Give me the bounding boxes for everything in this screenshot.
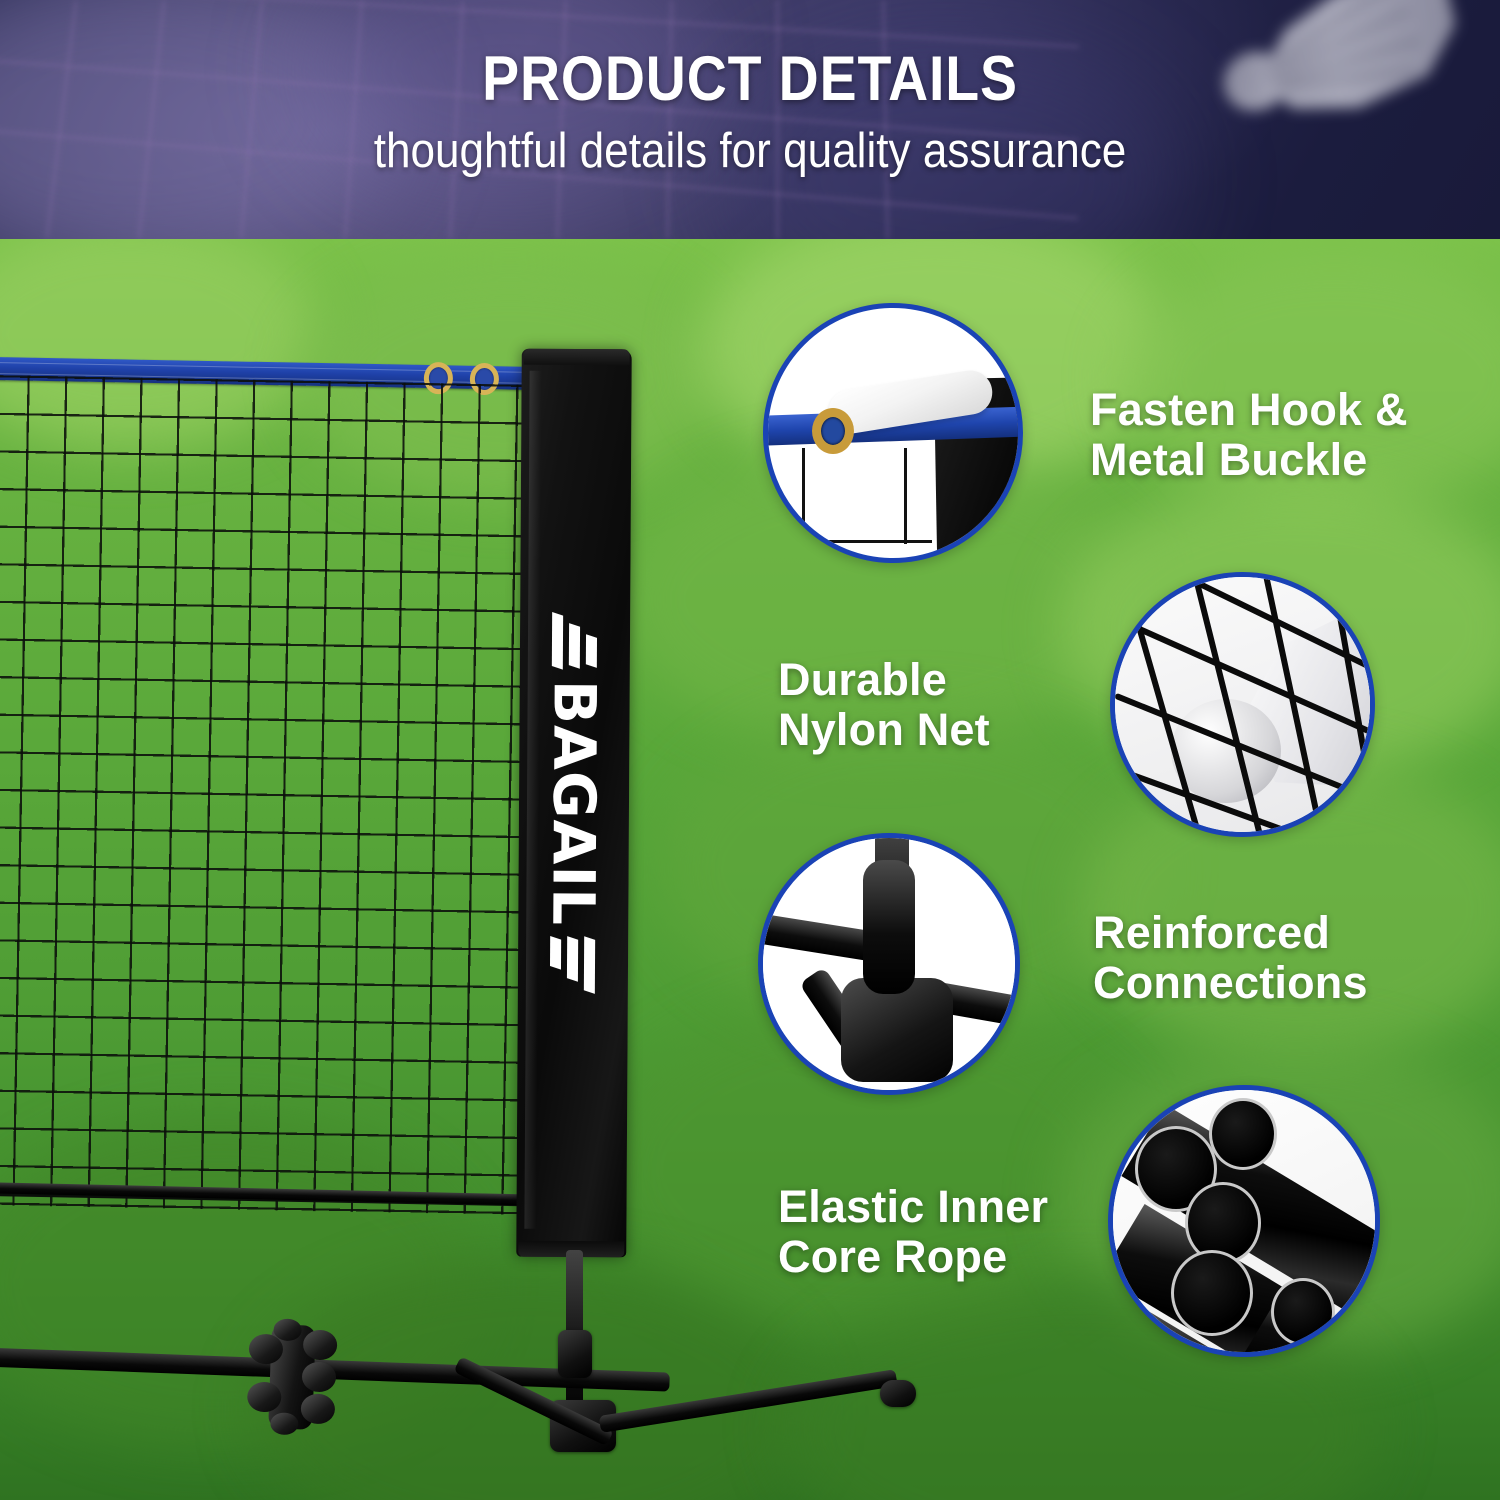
steel-tubes-icon (1108, 1085, 1380, 1357)
feature-label-reinforced-connections: Reinforced Connections (1093, 908, 1433, 1007)
feature-label-fasten-hook: Fasten Hook & Metal Buckle (1090, 385, 1450, 484)
nylon-net-icon (1110, 572, 1375, 837)
y-connector-icon (758, 833, 1020, 1095)
cord-clip-icon (246, 1323, 338, 1430)
feature-label-elastic-inner-core-rope: Elastic Inner Core Rope (778, 1182, 1108, 1281)
product-detail-infographic: PRODUCT DETAILS thoughtful details for q… (0, 0, 1500, 1500)
brand-name: BAGAIL (544, 680, 604, 926)
badminton-net-icon: BAGAIL (0, 0, 760, 1500)
bagail-bars-icon (550, 938, 595, 992)
net-mesh (0, 375, 535, 1215)
fasten-hook-icon (763, 303, 1023, 563)
bagail-bars-icon (552, 614, 597, 668)
foot-cap-right (880, 1380, 916, 1407)
feature-label-durable-nylon-net: Durable Nylon Net (778, 655, 1078, 754)
net-post-icon: BAGAIL (516, 349, 632, 1258)
base-t-collar (558, 1330, 592, 1378)
brand-logo: BAGAIL (544, 614, 604, 992)
